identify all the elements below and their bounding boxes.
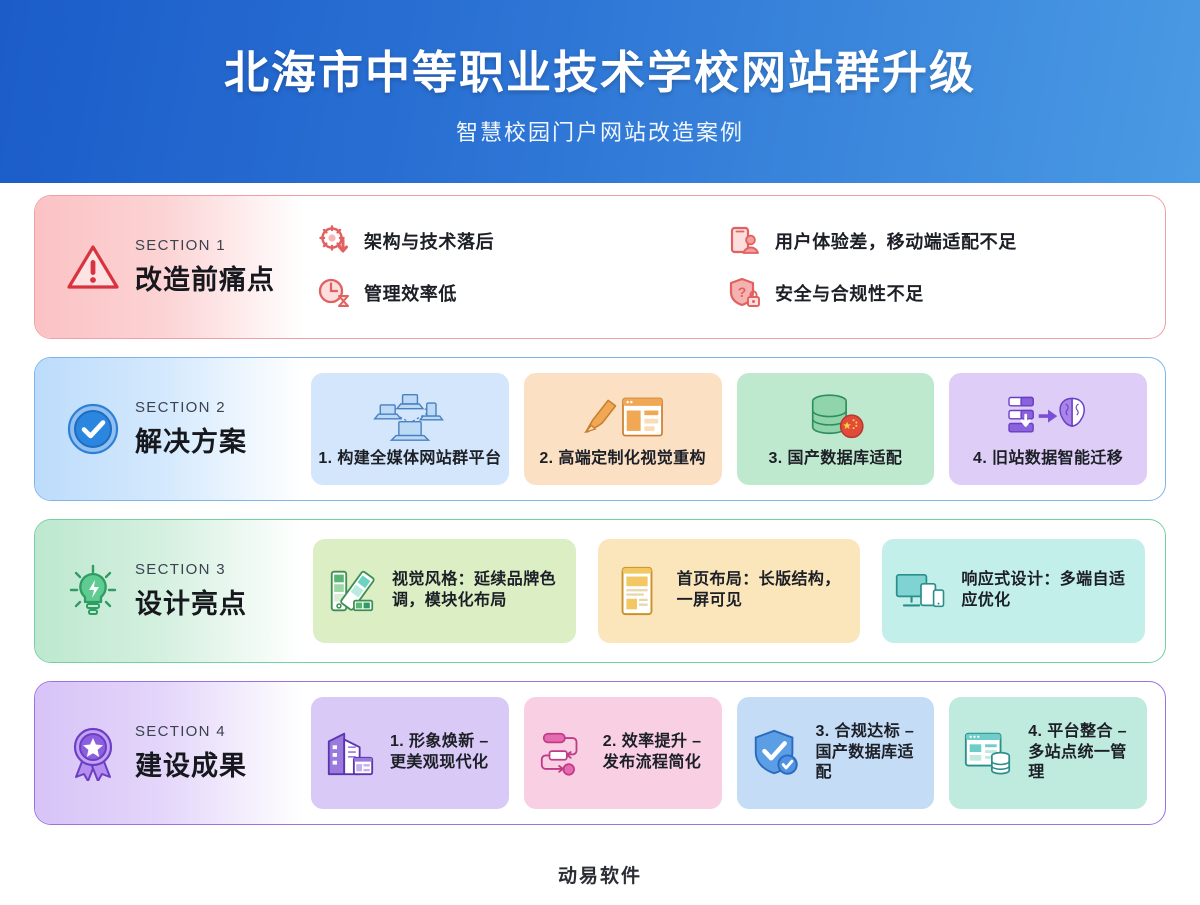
card-label: 1. 形象焕新 – 更美观现代化 xyxy=(390,732,497,774)
section-1-header: SECTION 1 改造前痛点 xyxy=(35,196,303,338)
card-design-3[interactable]: 响应式设计：多端自适应优化 xyxy=(882,539,1145,643)
section-kicker: SECTION 1 xyxy=(135,237,275,254)
list-item-label: 安全与合规性不足 xyxy=(775,280,924,306)
color-swatch-icon xyxy=(325,563,379,619)
list-item-label: 架构与技术落后 xyxy=(364,228,494,254)
warning-triangle-icon xyxy=(65,239,121,295)
svg-text:?: ? xyxy=(738,284,747,300)
section-title: 设计亮点 xyxy=(135,582,247,621)
section-4-meta: SECTION 4 建设成果 xyxy=(135,723,247,783)
sections-board: SECTION 1 改造前痛点 xyxy=(0,183,1200,825)
section-4-header: SECTION 4 建设成果 xyxy=(35,682,303,824)
long-page-layout-icon xyxy=(610,563,664,619)
list-item: 管理效率低 xyxy=(317,276,728,310)
section-2-meta: SECTION 2 解决方案 xyxy=(135,399,247,459)
check-badge-icon xyxy=(65,401,121,457)
site-database-icon xyxy=(961,725,1015,781)
multi-device-icon xyxy=(894,563,948,619)
page-header: 北海市中等职业技术学校网站群升级 智慧校园门户网站改造案例 xyxy=(0,0,1200,183)
list-item-label: 用户体验差，移动端适配不足 xyxy=(775,228,1017,254)
shield-check-icon xyxy=(749,725,803,781)
database-china-icon xyxy=(789,389,881,445)
section-title: 解决方案 xyxy=(135,420,247,459)
section-solutions: SECTION 2 解决方案 xyxy=(34,357,1166,501)
section-4-body: 1. 形象焕新 – 更美观现代化 2 xyxy=(303,682,1165,824)
card-outcome-4[interactable]: 4. 平台整合 – 多站点统一管理 xyxy=(949,697,1147,809)
section-title: 改造前痛点 xyxy=(135,258,275,297)
paintbrush-layout-icon xyxy=(577,389,669,445)
list-item: 架构与技术落后 xyxy=(317,224,728,258)
section-3-header: SECTION 3 设计亮点 xyxy=(35,520,303,662)
card-label: 1. 构建全媒体网站群平台 xyxy=(318,449,501,470)
section-3-body: 视觉风格：延续品牌色调，模块化布局 xyxy=(303,520,1165,662)
section-title: 建设成果 xyxy=(135,744,247,783)
card-label: 4. 平台整合 – 多站点统一管理 xyxy=(1028,722,1135,784)
card-label: 2. 效率提升 – 发布流程简化 xyxy=(603,732,710,774)
card-design-2[interactable]: 首页布局：长版结构，一屏可见 xyxy=(598,539,861,643)
card-solution-3[interactable]: 3. 国产数据库适配 xyxy=(737,373,935,485)
building-page-icon xyxy=(323,725,377,781)
card-outcome-3[interactable]: 3. 合规达标 – 国产数据库适配 xyxy=(737,697,935,809)
section-outcomes: SECTION 4 建设成果 xyxy=(34,681,1166,825)
footer-brand: 动易软件 xyxy=(558,861,642,888)
section-kicker: SECTION 2 xyxy=(135,399,247,416)
card-label: 视觉风格：延续品牌色调，模块化布局 xyxy=(392,570,564,612)
lightbulb-icon xyxy=(65,563,121,619)
list-item-label: 管理效率低 xyxy=(364,280,457,306)
section-1-meta: SECTION 1 改造前痛点 xyxy=(135,237,275,297)
award-ribbon-icon xyxy=(65,725,121,781)
card-label: 响应式设计：多端自适应优化 xyxy=(961,570,1133,612)
card-label: 4. 旧站数据智能迁移 xyxy=(973,449,1123,470)
server-to-brain-icon xyxy=(1002,389,1094,445)
section-3-meta: SECTION 3 设计亮点 xyxy=(135,561,247,621)
clock-hourglass-icon xyxy=(317,276,351,310)
page-subtitle: 智慧校园门户网站改造案例 xyxy=(456,115,744,147)
card-label: 2. 高端定制化视觉重构 xyxy=(539,449,706,470)
section-2-header: SECTION 2 解决方案 xyxy=(35,358,303,500)
card-label: 首页布局：长版结构，一屏可见 xyxy=(677,570,849,612)
section-kicker: SECTION 3 xyxy=(135,561,247,578)
section-kicker: SECTION 4 xyxy=(135,723,247,740)
card-design-1[interactable]: 视觉风格：延续品牌色调，模块化布局 xyxy=(313,539,576,643)
section-2-body: 1. 构建全媒体网站群平台 xyxy=(303,358,1165,500)
section-pain-points: SECTION 1 改造前痛点 xyxy=(34,195,1166,339)
card-solution-1[interactable]: 1. 构建全媒体网站群平台 xyxy=(311,373,509,485)
card-label: 3. 国产数据库适配 xyxy=(768,449,902,470)
card-solution-4[interactable]: 4. 旧站数据智能迁移 xyxy=(949,373,1147,485)
design-cards: 视觉风格：延续品牌色调，模块化布局 xyxy=(303,539,1165,643)
workflow-icon xyxy=(536,725,590,781)
page-title: 北海市中等职业技术学校网站群升级 xyxy=(224,36,976,101)
mobile-user-icon xyxy=(728,224,762,258)
solution-cards: 1. 构建全媒体网站群平台 xyxy=(303,373,1165,485)
card-label: 3. 合规达标 – 国产数据库适配 xyxy=(816,722,923,784)
list-item: ? 安全与合规性不足 xyxy=(728,276,1139,310)
section-design-highlights: SECTION 3 设计亮点 xyxy=(34,519,1166,663)
card-solution-2[interactable]: 2. 高端定制化视觉重构 xyxy=(524,373,722,485)
list-item: 用户体验差，移动端适配不足 xyxy=(728,224,1139,258)
gear-down-arrow-icon xyxy=(317,224,351,258)
outcome-cards: 1. 形象焕新 – 更美观现代化 2 xyxy=(303,697,1165,809)
card-outcome-2[interactable]: 2. 效率提升 – 发布流程简化 xyxy=(524,697,722,809)
card-outcome-1[interactable]: 1. 形象焕新 – 更美观现代化 xyxy=(311,697,509,809)
section-1-body: 架构与技术落后 用户体验差，移动端适配不足 xyxy=(303,196,1165,338)
pain-point-grid: 架构与技术落后 用户体验差，移动端适配不足 xyxy=(303,224,1165,310)
shield-question-lock-icon: ? xyxy=(728,276,762,310)
device-network-icon xyxy=(364,389,456,445)
